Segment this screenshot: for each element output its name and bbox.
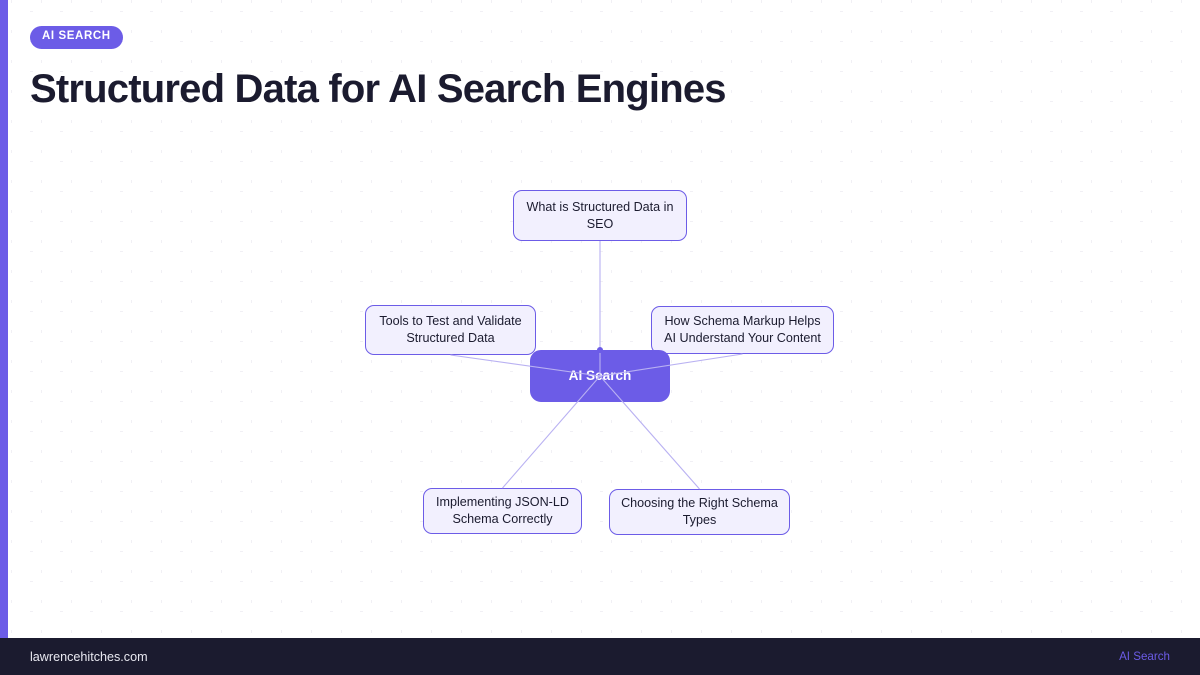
mindmap-node-how-schema-markup-helps-ai-understand-your-content-label: How Schema Markup Helps AI Understand Yo… xyxy=(662,313,823,346)
mindmap-node-tools-to-test-and-validate-structured-data-label: Tools to Test and Validate Structured Da… xyxy=(376,313,525,346)
mindmap-node-choosing-the-right-schema-types[interactable]: Choosing the Right Schema Types xyxy=(609,489,790,535)
mindmap-node-tools-to-test-and-validate-structured-data[interactable]: Tools to Test and Validate Structured Da… xyxy=(365,305,536,355)
mindmap-root-node-label: AI Search xyxy=(569,367,632,385)
footer: lawrencehitches.com AI Search xyxy=(0,638,1200,675)
mindmap-node-how-schema-markup-helps-ai-understand-your-content[interactable]: How Schema Markup Helps AI Understand Yo… xyxy=(651,306,834,354)
mindmap-root-node[interactable]: AI Search xyxy=(530,350,670,402)
category-badge: AI SEARCH xyxy=(30,26,123,49)
footer-category-label: AI Search xyxy=(1119,650,1170,663)
header: AI SEARCH Structured Data for AI Search … xyxy=(30,26,726,111)
left-accent-rail xyxy=(0,0,8,638)
mindmap-node-implementing-json-ld-schema-correctly[interactable]: Implementing JSON-LD Schema Correctly xyxy=(423,488,582,534)
page-title: Structured Data for AI Search Engines xyxy=(30,67,726,111)
mindmap-node-what-is-structured-data-in-seo[interactable]: What is Structured Data in SEO xyxy=(513,190,687,241)
footer-site-url: lawrencehitches.com xyxy=(30,650,148,664)
mindmap-node-implementing-json-ld-schema-correctly-label: Implementing JSON-LD Schema Correctly xyxy=(434,494,571,527)
mindmap-node-what-is-structured-data-in-seo-label: What is Structured Data in SEO xyxy=(524,199,676,232)
mindmap-node-choosing-the-right-schema-types-label: Choosing the Right Schema Types xyxy=(620,495,779,528)
